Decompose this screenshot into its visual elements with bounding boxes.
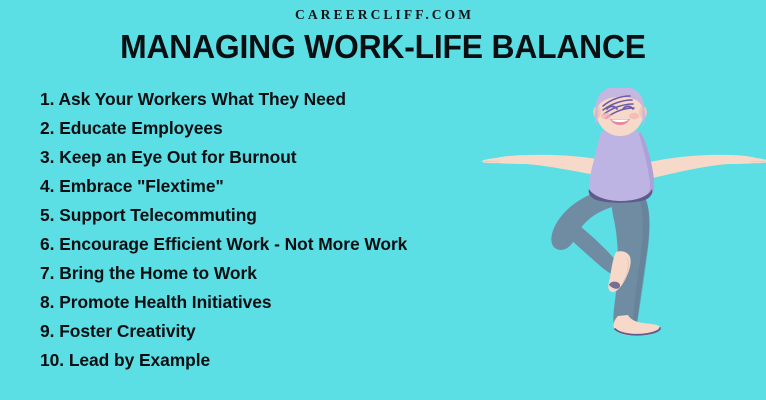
- list-item: 2. Educate Employees: [40, 114, 510, 143]
- left-hand: [482, 158, 498, 163]
- list-item-number: 10.: [40, 350, 64, 370]
- list-item-label: Ask Your Workers What They Need: [59, 89, 346, 109]
- right-cheek: [629, 113, 639, 119]
- site-name: CAREERCLIFF.COM: [0, 7, 766, 23]
- list-item-number: 2.: [40, 118, 54, 138]
- left-cheek: [601, 113, 611, 119]
- list-item-label: Foster Creativity: [59, 321, 195, 341]
- list-item: 5. Support Telecommuting: [40, 201, 510, 230]
- list-item-number: 4.: [40, 176, 54, 196]
- list-item-label: Support Telecommuting: [59, 205, 257, 225]
- list-item-number: 3.: [40, 147, 54, 167]
- list-item: 6. Encourage Efficient Work - Not More W…: [40, 230, 510, 259]
- poster-canvas: CAREERCLIFF.COM MANAGING WORK-LIFE BALAN…: [0, 0, 766, 400]
- list-item: 3. Keep an Eye Out for Burnout: [40, 143, 510, 172]
- list-item-number: 9.: [40, 321, 54, 341]
- list-item-label: Embrace "Flextime": [59, 176, 223, 196]
- list-item-label: Educate Employees: [59, 118, 222, 138]
- list-item-number: 6.: [40, 234, 54, 254]
- list-item: 8. Promote Health Initiatives: [40, 288, 510, 317]
- list-item: 10. Lead by Example: [40, 346, 510, 375]
- list-item-label: Keep an Eye Out for Burnout: [59, 147, 296, 167]
- list-item: 9. Foster Creativity: [40, 317, 510, 346]
- woman-yoga-tree-pose-illustration: [470, 88, 766, 348]
- list-item-number: 1.: [40, 89, 54, 109]
- list-item-label: Encourage Efficient Work - Not More Work: [59, 234, 407, 254]
- list-item-number: 7.: [40, 263, 54, 283]
- list-item-label: Promote Health Initiatives: [59, 292, 271, 312]
- tips-list: 1. Ask Your Workers What They Need 2. Ed…: [40, 85, 510, 375]
- list-item-label: Lead by Example: [69, 350, 210, 370]
- right-arm: [642, 155, 759, 180]
- list-item: 4. Embrace "Flextime": [40, 172, 510, 201]
- list-item: 7. Bring the Home to Work: [40, 259, 510, 288]
- list-item-label: Bring the Home to Work: [59, 263, 257, 283]
- list-item: 1. Ask Your Workers What They Need: [40, 85, 510, 114]
- page-title: MANAGING WORK-LIFE BALANCE: [13, 27, 752, 67]
- list-item-number: 5.: [40, 205, 54, 225]
- list-item-number: 8.: [40, 292, 54, 312]
